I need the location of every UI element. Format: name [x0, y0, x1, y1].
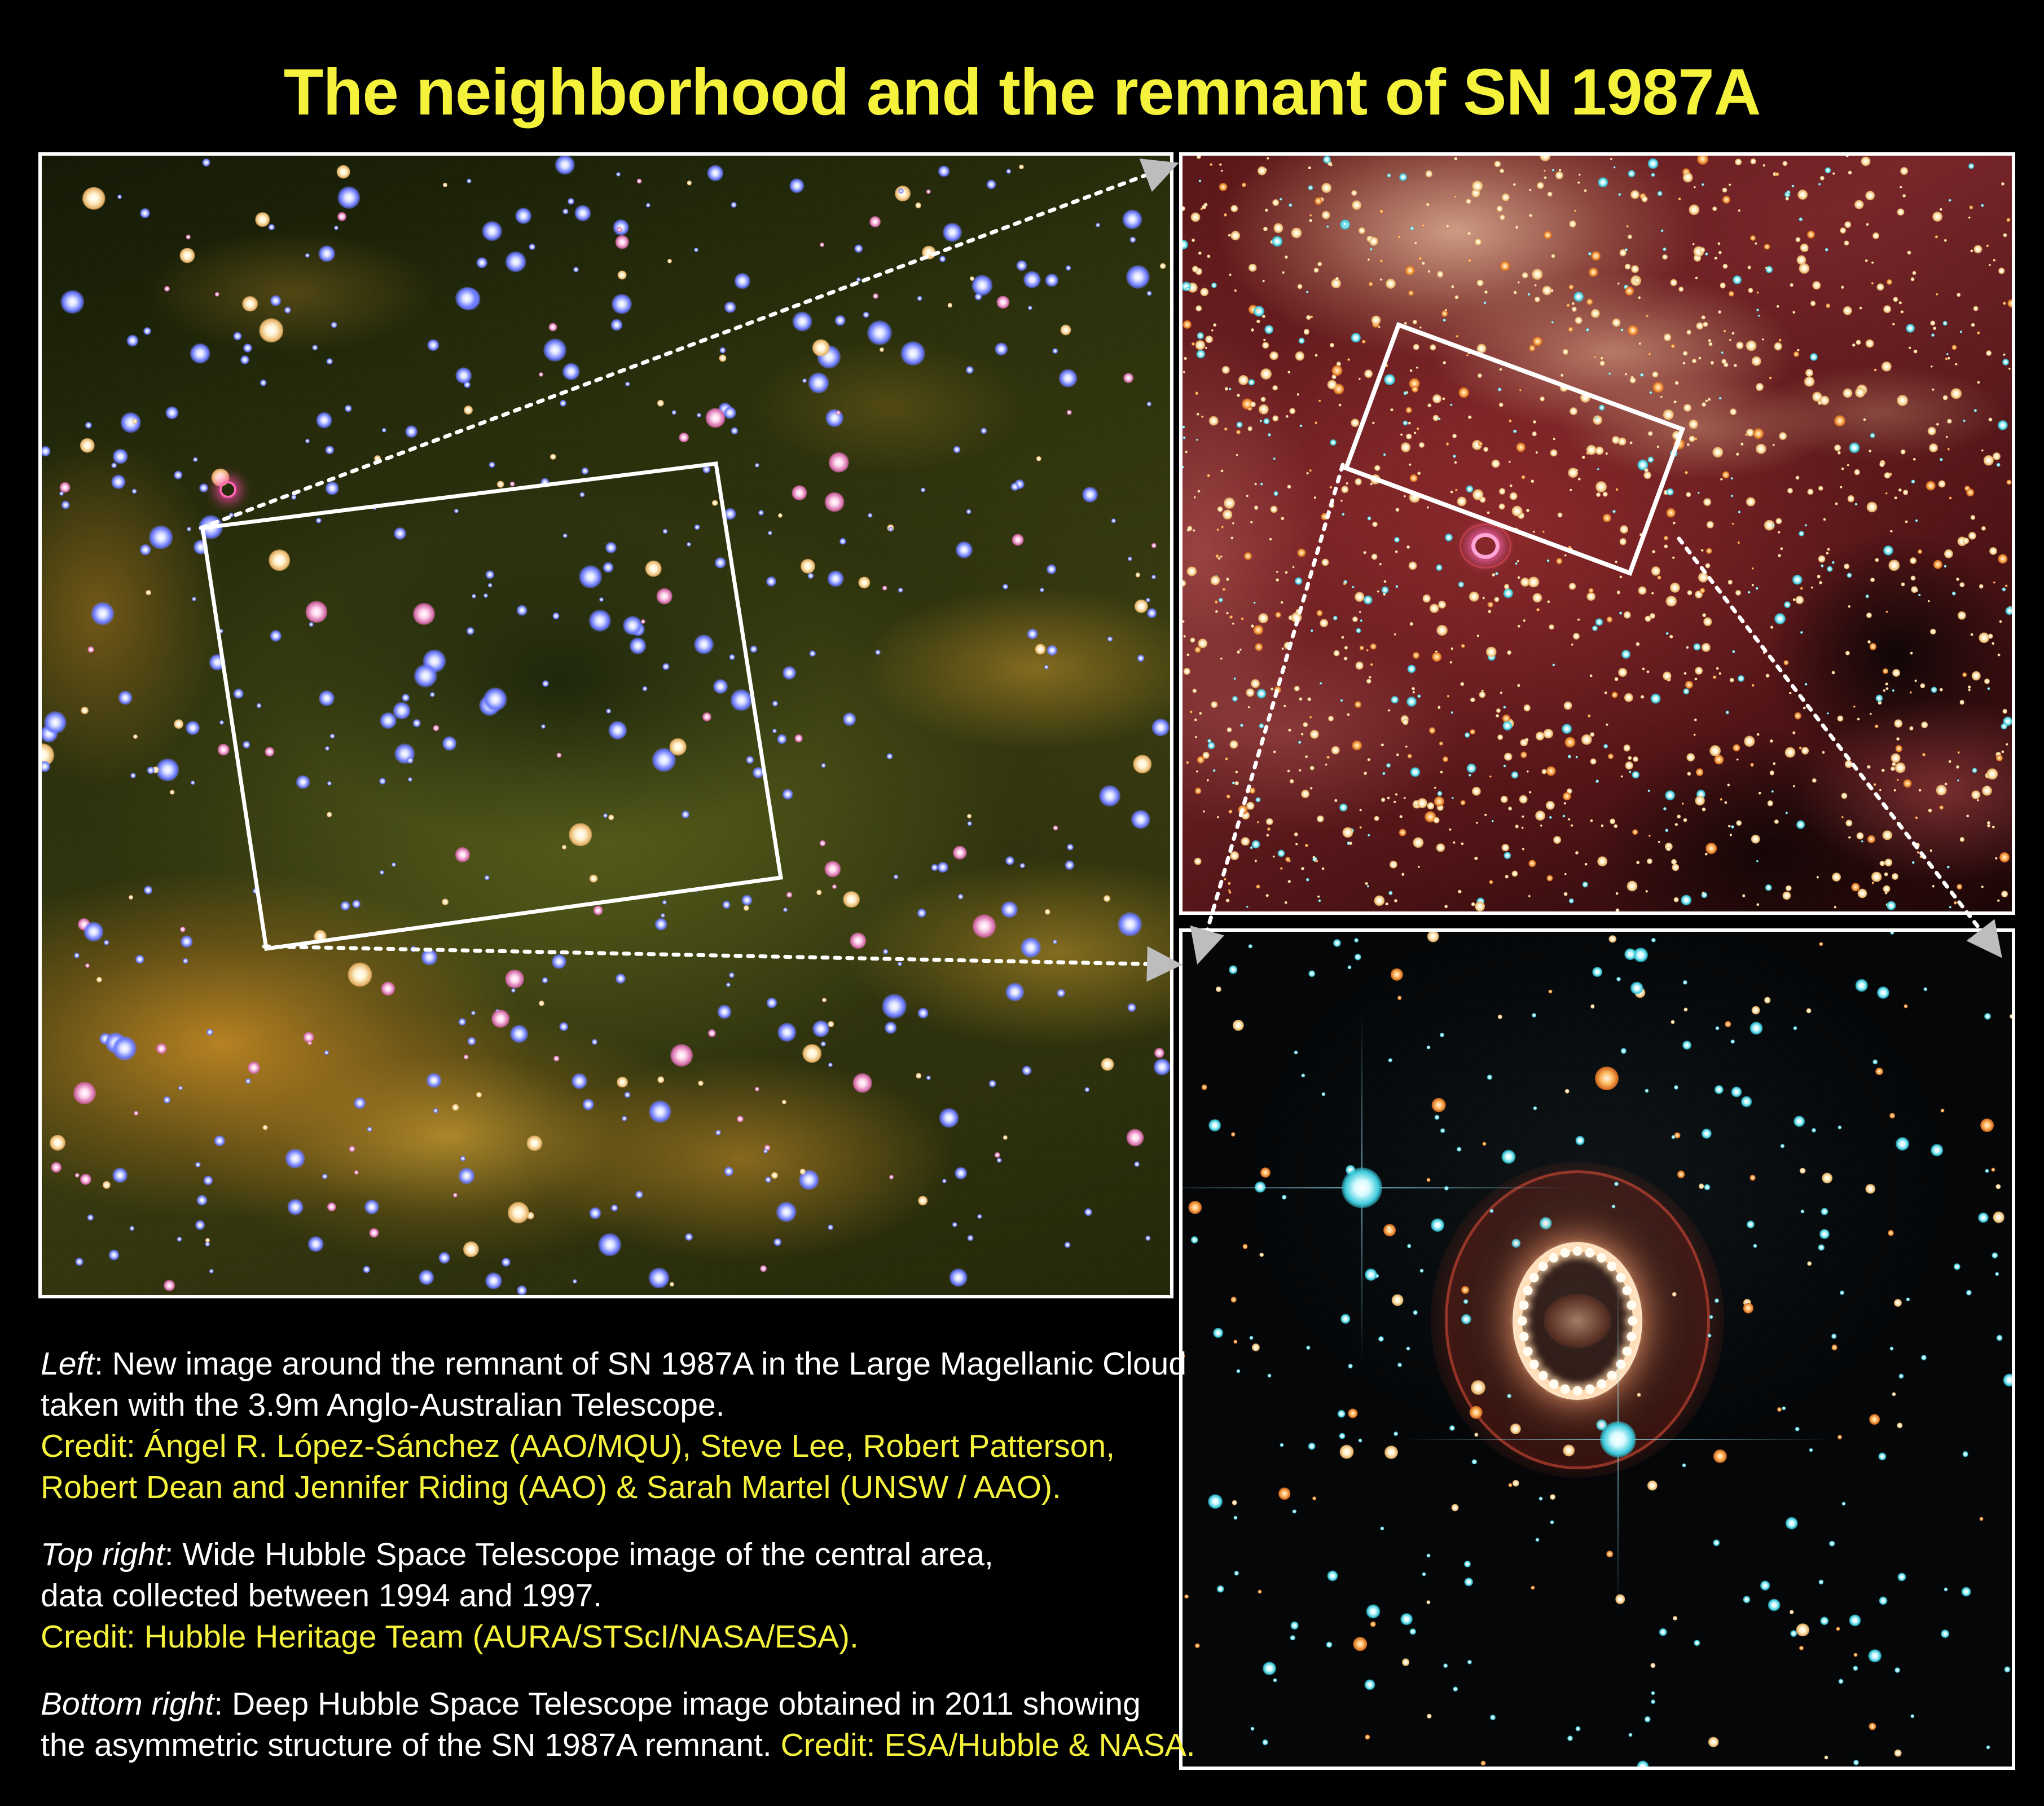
bottom-right-panel[interactable]	[1179, 928, 2015, 1770]
sn1987a-hotspot	[1585, 1384, 1594, 1394]
top-right-panel-grain	[1183, 156, 2012, 911]
caption-left: Left: New image around the remnant of SN…	[41, 1344, 1163, 1508]
sn1987a-hotspot	[1597, 1253, 1606, 1263]
sn1987a-ring-top-right	[1471, 533, 1500, 559]
sn1987a-hotspot	[1523, 1286, 1532, 1296]
caption-segment: Bottom right	[41, 1686, 214, 1722]
sn1987a-hotspot	[1607, 1371, 1617, 1380]
sn1987a-hotspot	[1549, 1379, 1558, 1389]
sn1987a-hotspot	[1518, 1316, 1527, 1326]
sn1987a-hotspot	[1561, 1384, 1570, 1394]
sn1987a-hotspot	[1529, 1360, 1539, 1369]
caption-segment: : Deep Hubble Space Telescope image obta…	[214, 1686, 1141, 1722]
sn1987a-hotspot	[1561, 1248, 1570, 1258]
caption-line: Top right: Wide Hubble Space Telescope i…	[41, 1534, 1163, 1575]
sn1987a-hotspot	[1627, 1301, 1636, 1310]
caption-line: Credit: Ángel R. López-Sánchez (AAO/MQU)…	[41, 1426, 1163, 1467]
sn1987a-hotspot	[1627, 1332, 1636, 1341]
sn1987a-hotspot	[1573, 1246, 1583, 1256]
caption-line: data collected between 1994 and 1997.	[41, 1575, 1163, 1616]
sn1987a-hotspot	[1597, 1379, 1606, 1389]
caption-segment: : New image around the remnant of SN 198…	[94, 1346, 1186, 1382]
caption-line: Left: New image around the remnant of SN…	[41, 1344, 1163, 1385]
sn1987a-hotspot	[1573, 1386, 1583, 1396]
sn1987a-hotspot	[1616, 1272, 1625, 1282]
caption-bottom-right: Bottom right: Deep Hubble Space Telescop…	[41, 1684, 1163, 1766]
caption-segment: : Wide Hubble Space Telescope image of t…	[165, 1536, 994, 1572]
caption-top-right: Top right: Wide Hubble Space Telescope i…	[41, 1534, 1163, 1658]
caption-line: Bottom right: Deep Hubble Space Telescop…	[41, 1684, 1163, 1725]
caption-segment: taken with the 3.9m Anglo-Australian Tel…	[41, 1387, 725, 1423]
page-title: The neighborhood and the remnant of SN 1…	[0, 54, 2044, 130]
caption-line: taken with the 3.9m Anglo-Australian Tel…	[41, 1385, 1163, 1426]
sn1987a-hotspot	[1538, 1262, 1548, 1271]
caption-segment: Credit: Hubble Heritage Team (AURA/STScI…	[41, 1619, 859, 1655]
sn1987a-hotspots	[1517, 1246, 1638, 1395]
caption-line: Credit: Hubble Heritage Team (AURA/STScI…	[41, 1616, 1163, 1658]
caption-segment: Left	[41, 1346, 94, 1382]
sn1987a-hotspot	[1538, 1371, 1548, 1380]
caption-segment: the asymmetric structure of the SN 1987A…	[41, 1727, 781, 1763]
caption-segment: Credit: ESA/Hubble & NASA.	[781, 1727, 1195, 1763]
top-right-panel[interactable]	[1179, 152, 2015, 915]
sn1987a-hotspot	[1607, 1262, 1617, 1271]
left-panel-grain	[42, 156, 1170, 1295]
sn1987a-hotspot	[1616, 1360, 1625, 1369]
caption-segment: data collected between 1994 and 1997.	[41, 1578, 602, 1614]
sn1987a-hotspot	[1628, 1316, 1638, 1326]
sn1987a-hotspot	[1523, 1346, 1532, 1356]
caption-segment: Credit: Ángel R. López-Sánchez (AAO/MQU)…	[41, 1428, 1115, 1464]
caption-line: Robert Dean and Jennifer Riding (AAO) & …	[41, 1467, 1163, 1508]
caption-area: Left: New image around the remnant of SN…	[41, 1344, 1163, 1792]
sn1987a-hotspot	[1623, 1286, 1632, 1296]
sn1987a-hotspot	[1549, 1253, 1558, 1263]
sn1987a-hotspot	[1519, 1332, 1528, 1341]
sn1987a-hotspot	[1519, 1301, 1528, 1310]
caption-line: the asymmetric structure of the SN 1987A…	[41, 1725, 1163, 1766]
caption-segment: Top right	[41, 1536, 165, 1572]
left-panel[interactable]	[38, 152, 1173, 1298]
sn1987a-hotspot	[1585, 1248, 1594, 1258]
sn1987a-hotspot	[1623, 1346, 1632, 1356]
caption-segment: Robert Dean and Jennifer Riding (AAO) & …	[41, 1469, 1061, 1505]
sn1987a-hotspot	[1529, 1272, 1539, 1282]
sn1987a-marker-left	[219, 481, 236, 498]
